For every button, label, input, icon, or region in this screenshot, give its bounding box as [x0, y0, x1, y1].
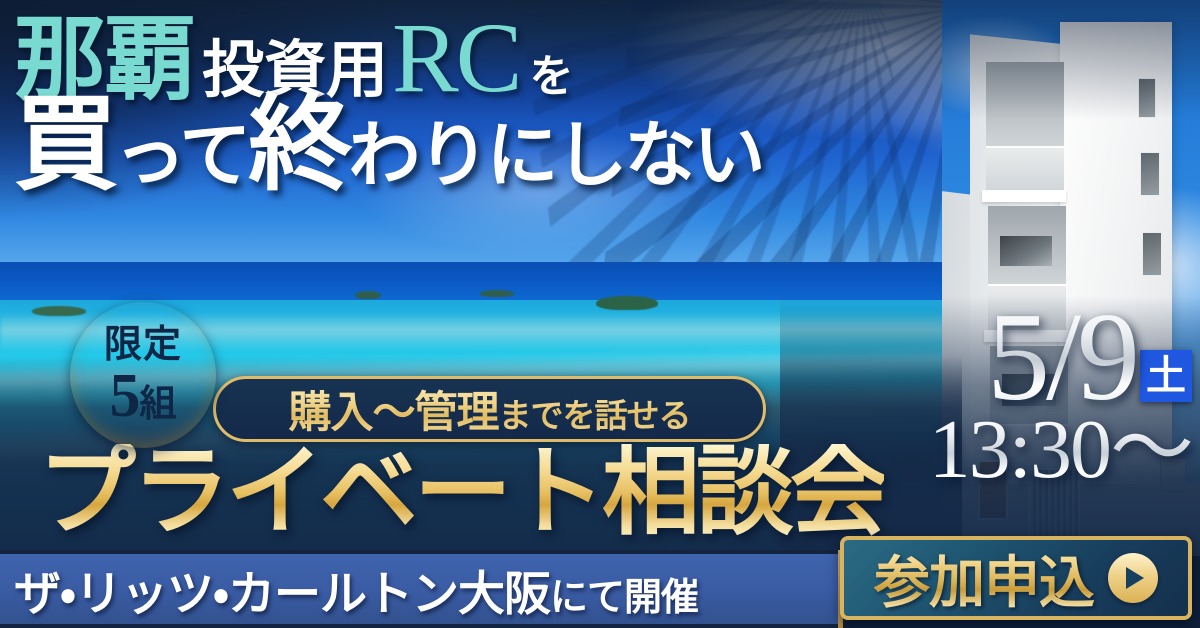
schedule-block: 5/9土 13:30〜: [929, 300, 1192, 492]
headline-asset-type: RC: [392, 8, 519, 108]
apply-button[interactable]: 参加申込: [840, 536, 1192, 620]
topic-pill-suffix: までを話せる: [499, 399, 691, 435]
limited-seats-badge: 限定 5 組: [70, 302, 216, 448]
apply-button-label: 参加申込: [874, 538, 1094, 619]
limited-count: 5: [110, 365, 139, 427]
facade-window-2: [1140, 152, 1160, 196]
balcony-window-3f: [1000, 236, 1052, 266]
event-date: 5/9: [987, 300, 1136, 416]
headline-kana-tail: わりにしない: [348, 116, 762, 196]
venue-suffix: にて開催: [550, 577, 698, 619]
date-row: 5/9土: [929, 300, 1192, 416]
headline-kana-tte: って: [114, 116, 248, 196]
event-time: 13:30〜: [929, 408, 1192, 492]
limited-count-row: 5 組: [110, 365, 177, 427]
event-title: プライベート相談会: [38, 444, 884, 542]
headline-verb-end: 終: [248, 88, 348, 203]
venue-name: ザ・リッツ・カールトン大阪: [14, 569, 550, 621]
headline-line-1: 那覇 投資用 RC を: [14, 8, 974, 108]
topic-pill-text: 購入〜管理までを話せる: [289, 378, 691, 440]
seminar-promo-banner: 那覇 投資用 RC を 買って終わりにしない 限定 5 組 購入〜管理までを話せ…: [0, 0, 1200, 628]
topic-pill-main: 購入〜管理: [289, 390, 499, 437]
islet-3: [596, 296, 658, 310]
facade-window-3: [1142, 232, 1162, 276]
headline-particle: を: [529, 55, 573, 99]
headline-verb-buy: 買: [14, 88, 114, 203]
headline-line-2: 買って終わりにしない: [14, 94, 974, 198]
floor-slab-4f: [982, 190, 1066, 202]
limited-unit: 組: [140, 386, 177, 423]
limited-label: 限定: [104, 326, 182, 364]
main-headline: 那覇 投資用 RC を 買って終わりにしない: [14, 8, 974, 198]
venue-text: ザ・リッツ・カールトン大阪にて開催: [0, 555, 698, 624]
play-arrow-icon: [1108, 553, 1158, 603]
balcony-rail-4f: [986, 146, 1064, 190]
islet-4: [32, 306, 86, 316]
day-of-week-badge: 土: [1140, 350, 1192, 402]
venue-bar: ザ・リッツ・カールトン大阪にて開催: [0, 550, 838, 628]
topic-pill: 購入〜管理までを話せる: [213, 376, 766, 442]
